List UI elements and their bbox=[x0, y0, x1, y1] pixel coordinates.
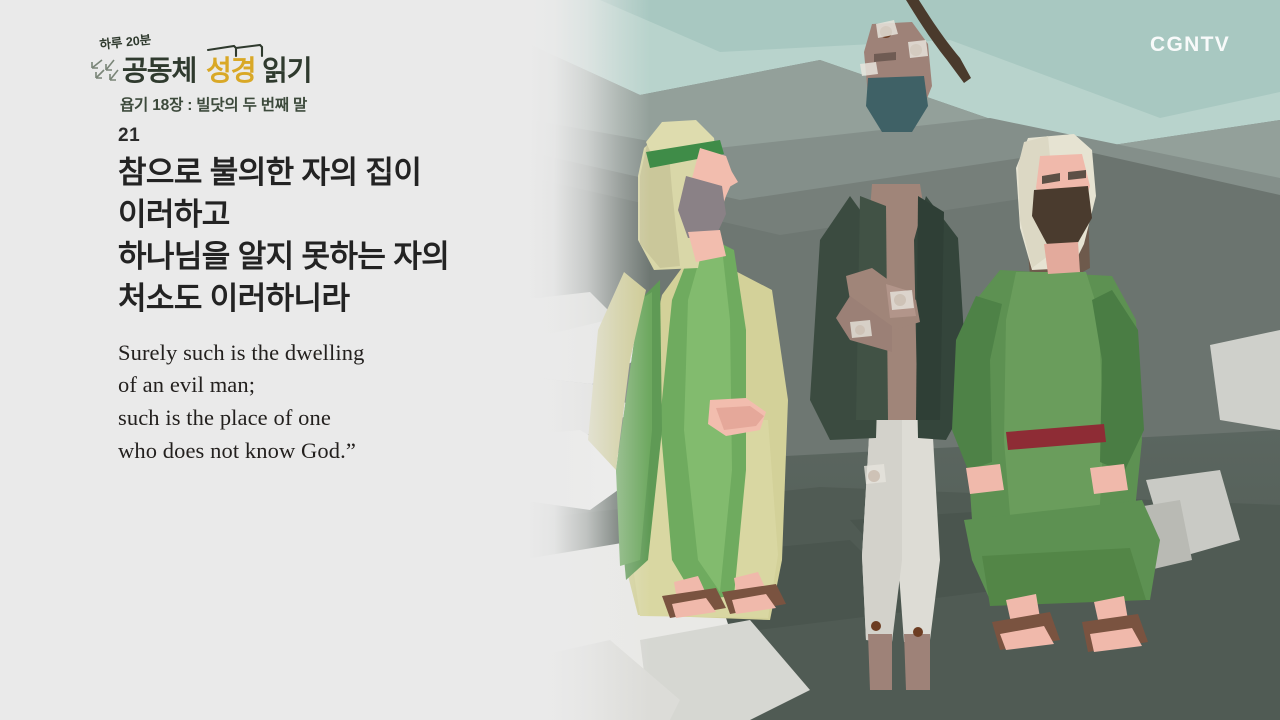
cgntv-watermark: CGNTV bbox=[1150, 33, 1230, 57]
verse-text-english: Surely such is the dwelling of an evil m… bbox=[118, 337, 548, 468]
job-leg-l bbox=[868, 634, 892, 690]
job-bandage-arm bbox=[850, 320, 872, 338]
scene-illustration bbox=[520, 0, 1280, 720]
episode-subtitle: 욥기 18장 : 빌닷의 두 번째 말 bbox=[120, 93, 508, 115]
program-branding: 하루 20분 공동체 성경 읽기 욥기 18장 : 빌닷의 두 번째 말 bbox=[88, 34, 508, 115]
job-leg-r bbox=[904, 634, 930, 690]
logo-word-after: 읽기 bbox=[262, 55, 312, 86]
verse-number: 21 bbox=[118, 126, 548, 145]
rock-light-right bbox=[1210, 330, 1280, 430]
verse-text-korean: 참으로 불의한 자의 집이 이러하고 하나님을 알지 못하는 자의 처소도 이러… bbox=[118, 152, 548, 321]
logo-word-highlight: 성경 bbox=[206, 55, 256, 86]
job-bandage-leg bbox=[864, 464, 886, 484]
right-figure-hand-r bbox=[1090, 464, 1128, 494]
verse-block: 21 참으로 불의한 자의 집이 이러하고 하나님을 알지 못하는 자의 처소도… bbox=[118, 126, 548, 467]
job-sore-knee bbox=[871, 621, 881, 631]
left-figure-beard bbox=[678, 176, 726, 238]
job-bandage-3 bbox=[860, 62, 878, 76]
logo-word-before: 공동체 bbox=[122, 55, 196, 86]
right-figure-neck bbox=[1044, 242, 1080, 274]
job-sore-knee-2 bbox=[913, 627, 923, 637]
slide-canvas: CGNTV 하루 20분 공동체 성경 읽기 욥기 bbox=[0, 0, 1280, 720]
job-bandage-hand bbox=[890, 290, 914, 310]
logo-top-text: 하루 20분 bbox=[99, 34, 153, 52]
logo-flourish-icon bbox=[92, 60, 118, 80]
program-logo: 하루 20분 공동체 성경 읽기 bbox=[88, 34, 388, 92]
right-figure-hand-l bbox=[966, 464, 1004, 494]
job-robe-inner-right bbox=[916, 196, 944, 420]
job-bandage-2 bbox=[908, 40, 928, 58]
scene-svg bbox=[520, 0, 1280, 720]
right-figure-robe-front bbox=[1004, 272, 1104, 540]
program-logo-svg: 하루 20분 공동체 성경 읽기 bbox=[88, 34, 388, 92]
